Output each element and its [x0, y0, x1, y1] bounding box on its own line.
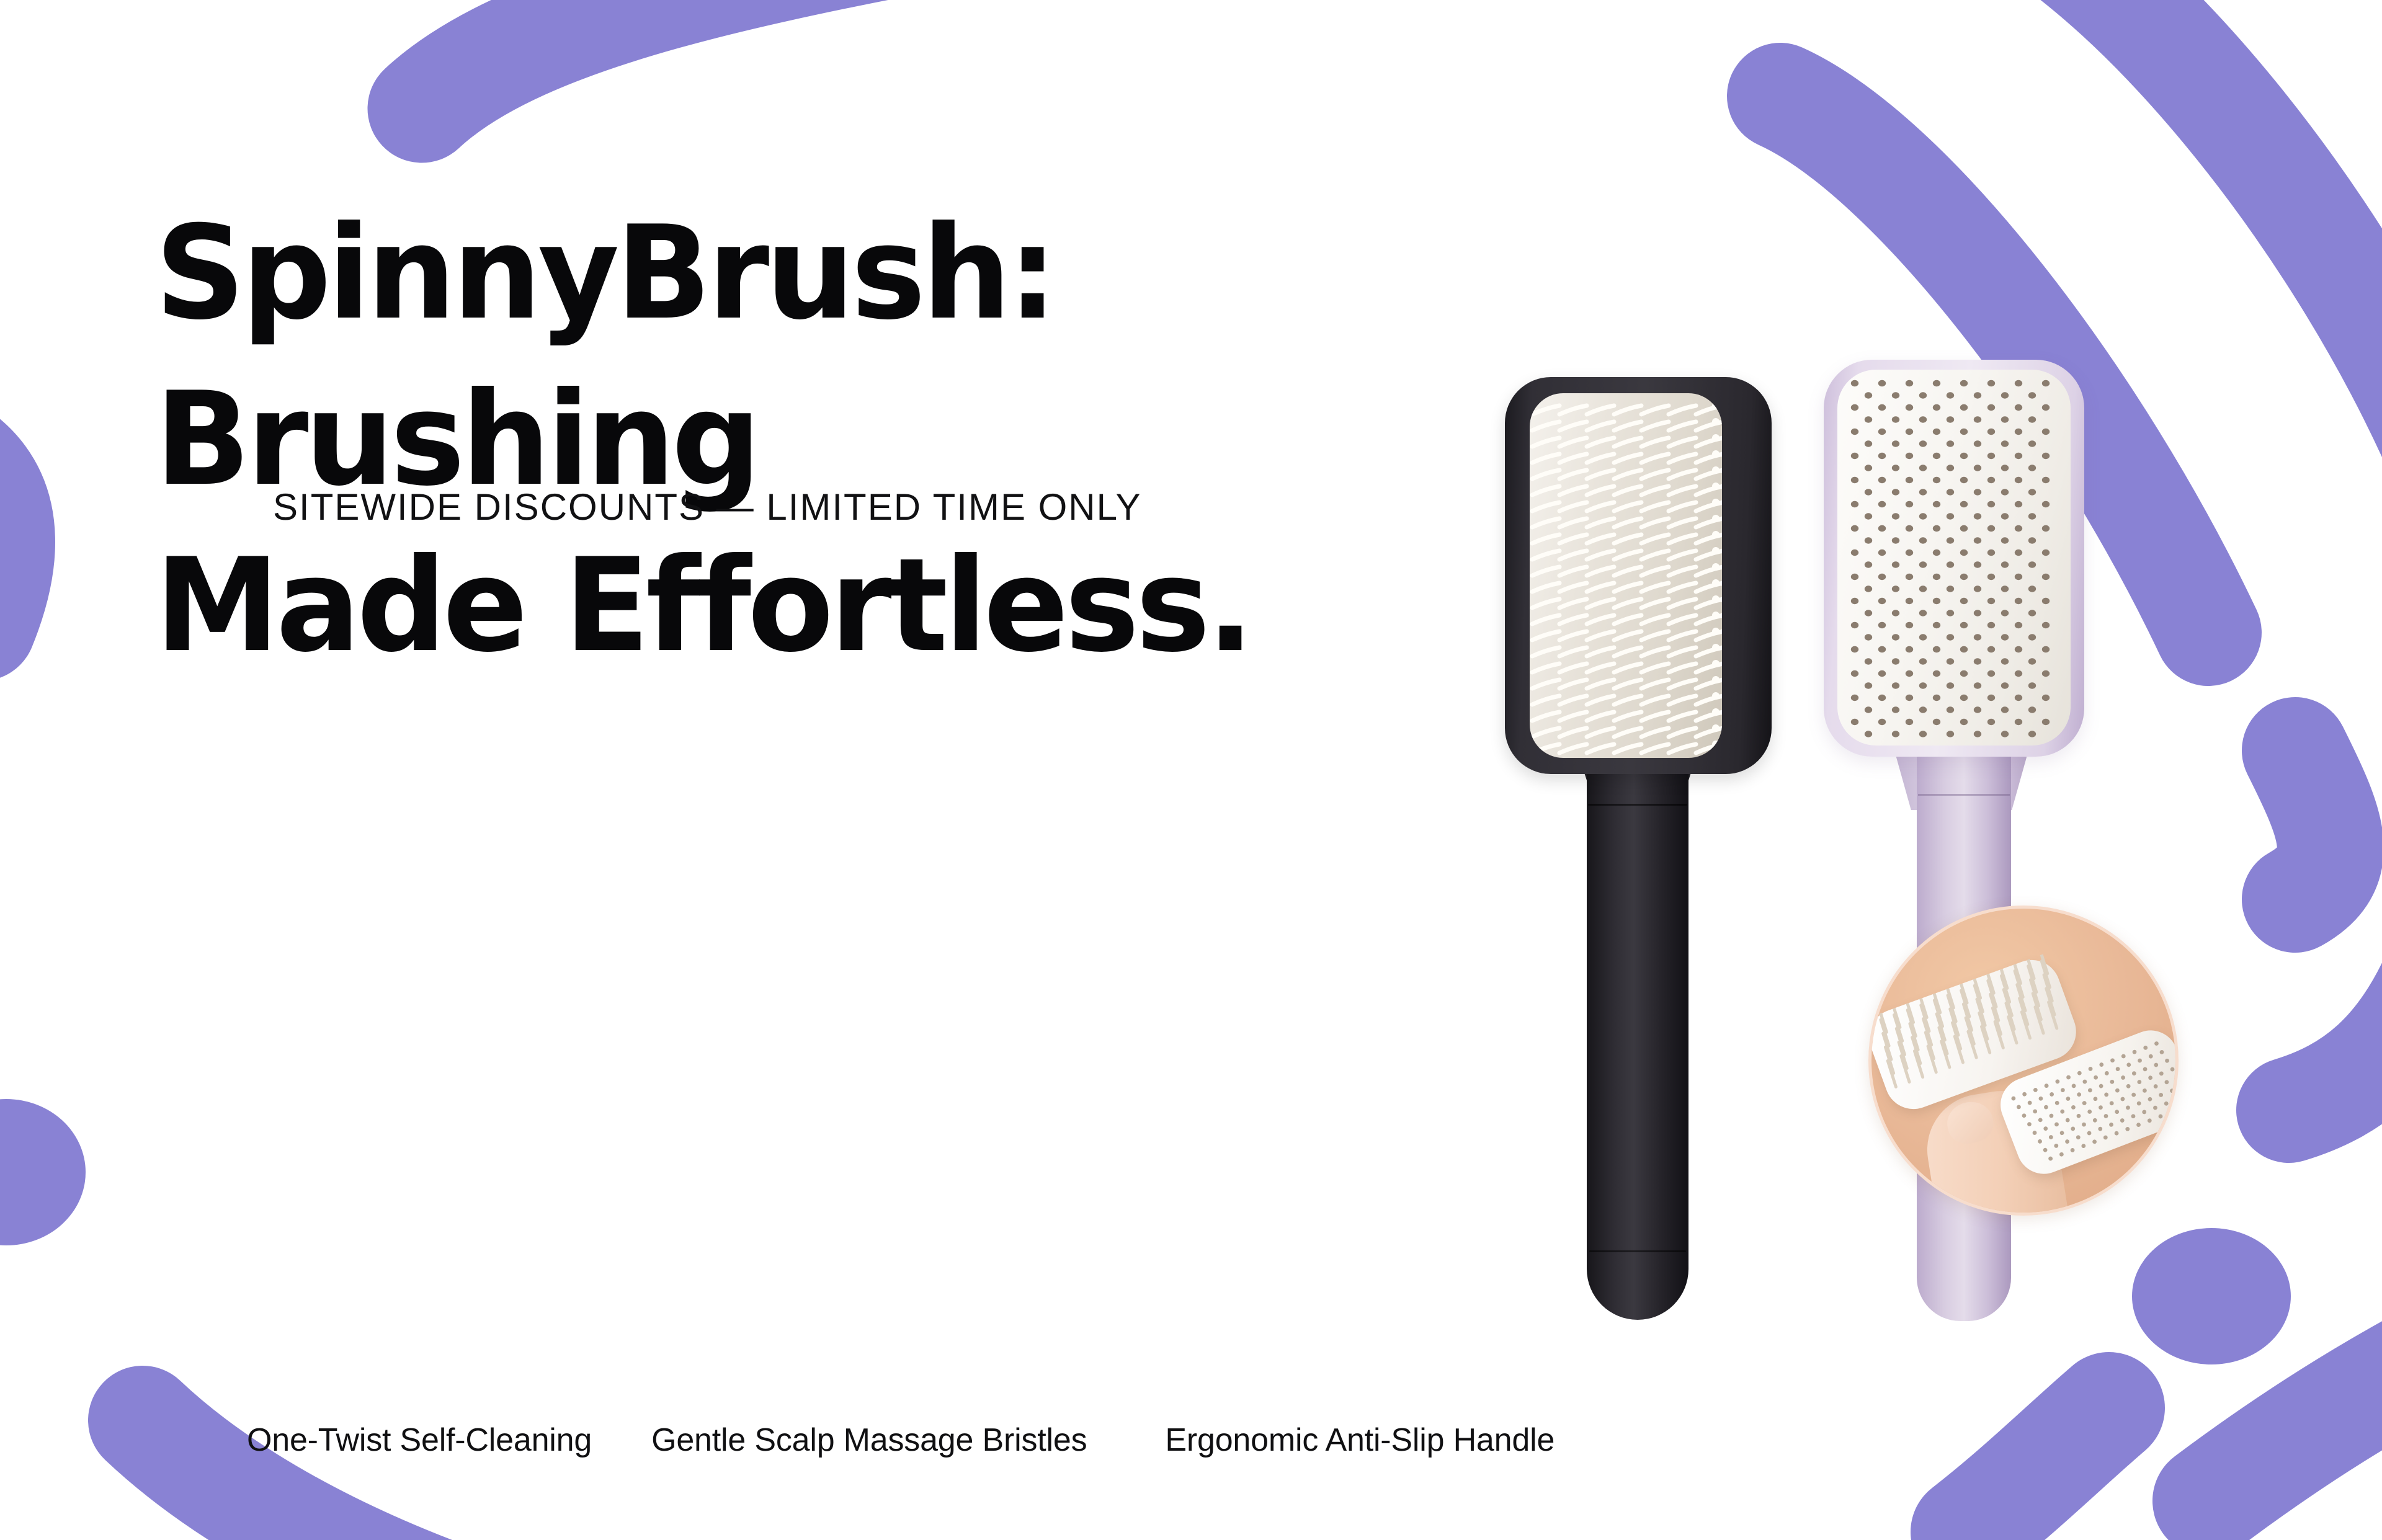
bristle-pattern	[1530, 393, 1722, 758]
lavender-brush-perforated-face	[1837, 370, 2071, 746]
product-image-group	[1501, 360, 2270, 1327]
lavender-handle-seam	[1918, 794, 2010, 796]
feature-list: One-Twist Self-Cleaning Gentle Scalp Mas…	[247, 1420, 1555, 1460]
black-handle-seam-top	[1588, 804, 1687, 806]
perforation-pattern	[1837, 370, 2071, 746]
page-title: SpinnyBrush: Brushing Made Effortless.	[155, 190, 1551, 689]
feature-item-massage-bristles: Gentle Scalp Massage Bristles	[651, 1420, 1087, 1460]
self-cleaning-detail-inset	[1868, 906, 2179, 1216]
lavender-brush-head	[1824, 360, 2084, 757]
promo-subtitle: SITEWIDE DISCOUNTS — LIMITED TIME ONLY	[273, 485, 1142, 530]
black-brush-head	[1505, 377, 1772, 774]
feature-item-anti-slip-handle: Ergonomic Anti-Slip Handle	[1165, 1420, 1555, 1460]
feature-item-self-cleaning: One-Twist Self-Cleaning	[247, 1420, 592, 1460]
promo-banner: SpinnyBrush: Brushing Made Effortless. S…	[0, 0, 2382, 1540]
black-spinny-brush	[1501, 377, 1774, 1326]
black-brush-bristle-pad	[1530, 393, 1722, 758]
black-brush-handle	[1587, 755, 1688, 1320]
black-handle-seam-bottom	[1589, 1250, 1686, 1252]
